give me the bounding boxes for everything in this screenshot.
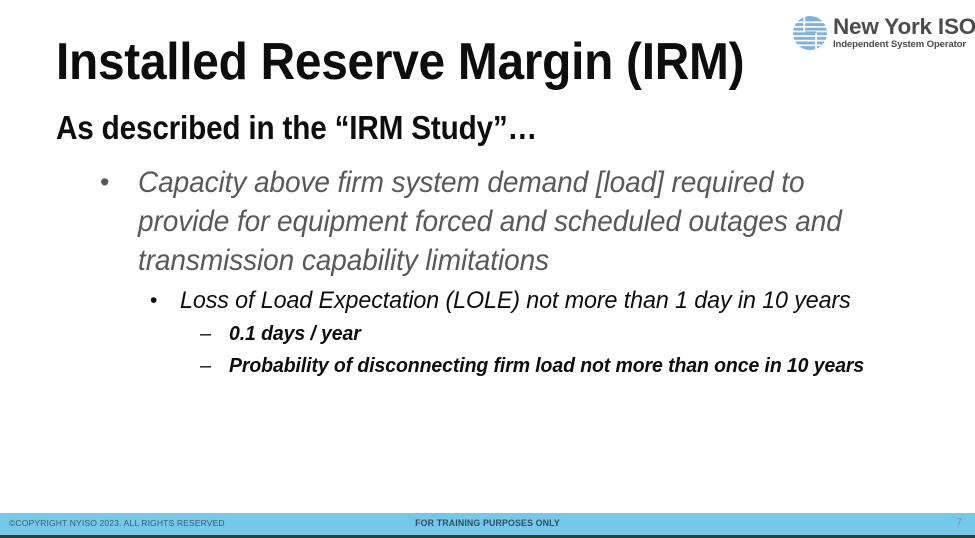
logo-title: New York ISO [833,16,975,39]
bullet-marker-icon: • [150,285,180,316]
slide-canvas: New York ISO Independent System Operator… [0,0,975,538]
list-item-text: Probability of disconnecting firm load n… [229,351,923,381]
list-item: • Loss of Load Expectation (LOLE) not mo… [150,285,950,316]
page-title: Installed Reserve Margin (IRM) [56,32,744,92]
bullet-marker-icon: • [100,163,138,202]
footer-training-notice: FOR TRAINING PURPOSES ONLY [0,518,975,528]
nyiso-logo: New York ISO Independent System Operator [792,13,967,53]
list-item-text: Loss of Load Expectation (LOLE) not more… [180,285,912,316]
footer-page-number: 7 [956,517,962,528]
dash-marker-icon: – [200,351,229,381]
logo-tagline: Independent System Operator [833,40,975,50]
list-item-text: 0.1 days / year [229,319,923,349]
nyiso-logo-wordmark: New York ISO Independent System Operator [833,16,975,50]
list-item: – Probability of disconnecting firm load… [200,351,960,381]
list-item: – 0.1 days / year [200,319,960,349]
page-subtitle: As described in the “IRM Study”… [56,108,537,148]
list-item-text: Capacity above firm system demand [load]… [138,163,862,280]
dash-marker-icon: – [200,319,229,349]
nyiso-circle-logo-icon [792,15,828,51]
list-item: • Capacity above firm system demand [loa… [100,163,900,280]
